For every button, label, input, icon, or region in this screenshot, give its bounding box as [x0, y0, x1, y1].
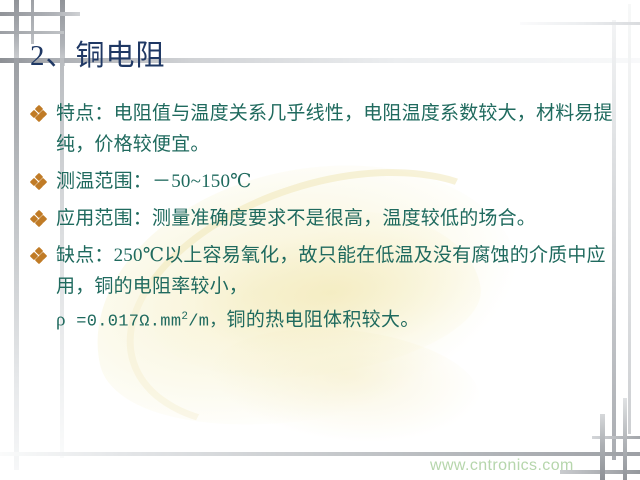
presentation-slide: 2、铜电阻 特点：电阻值与温度关系几乎线性，电阻温度系数较大，材料易提纯，价格较… — [0, 0, 640, 480]
list-item-text: 应用范围：测量准确度要求不是很高，温度较低的场合。 — [56, 203, 620, 234]
formula-expression: =0.017Ω.mm — [66, 313, 182, 332]
list-item: 特点：电阻值与温度关系几乎线性，电阻温度系数较大，材料易提纯，价格较便宜。 — [30, 98, 620, 160]
diamond-cluster-bullet-icon — [31, 248, 46, 263]
list-item: 缺点：250℃以上容易氧化，故只能在低温及没有腐蚀的介质中应用，铜的电阻率较小，… — [30, 240, 620, 338]
formula-symbol-rho: ρ — [56, 310, 66, 331]
formula-unit: /m， — [188, 313, 226, 332]
list-item-text: 特点：电阻值与温度关系几乎线性，电阻温度系数较大，材料易提纯，价格较便宜。 — [56, 98, 620, 160]
list-item: 应用范围：测量准确度要求不是很高，温度较低的场合。 — [30, 203, 620, 234]
slide-content: 2、铜电阻 特点：电阻值与温度关系几乎线性，电阻温度系数较大，材料易提纯，价格较… — [0, 0, 640, 480]
site-watermark: www.cntronics.com — [430, 457, 574, 475]
resistivity-formula: ρ =0.017Ω.mm2/m，铜的热电阻体积较大。 — [56, 302, 620, 338]
diamond-cluster-bullet-icon — [31, 174, 46, 189]
diamond-cluster-bullet-icon — [31, 106, 46, 121]
list-item-text: 测温范围：－50~150℃ — [56, 166, 620, 197]
list-item: 测温范围：－50~150℃ — [30, 166, 620, 197]
diamond-cluster-bullet-icon — [31, 211, 46, 226]
formula-trailing-text: 铜的热电阻体积较大。 — [227, 310, 420, 331]
bullet-list: 特点：电阻值与温度关系几乎线性，电阻温度系数较大，材料易提纯，价格较便宜。 测温… — [30, 98, 620, 338]
list-item-text: 缺点：250℃以上容易氧化，故只能在低温及没有腐蚀的介质中应用，铜的电阻率较小， — [56, 240, 620, 302]
slide-title: 2、铜电阻 — [30, 40, 166, 73]
